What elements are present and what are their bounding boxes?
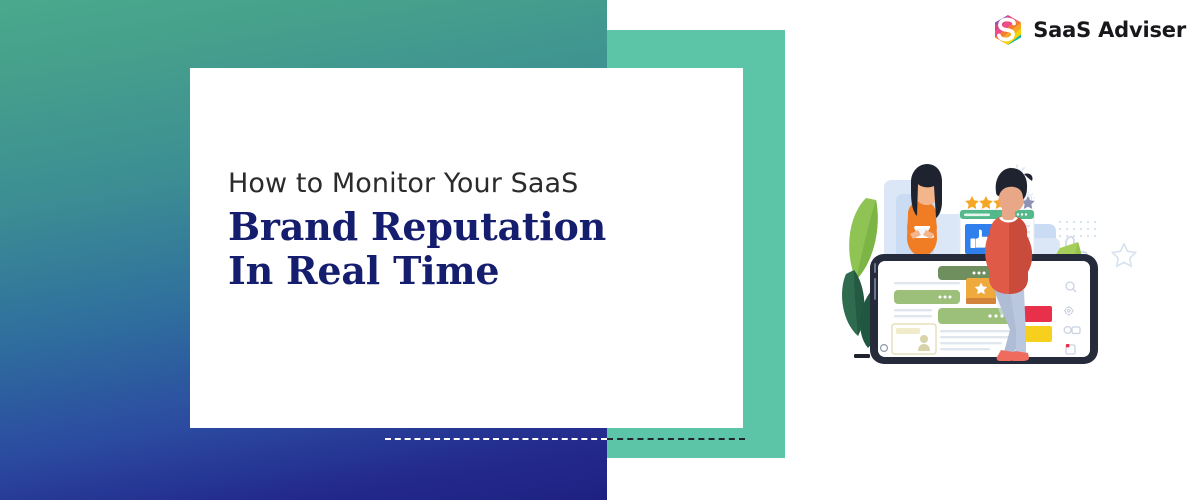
headline-card: How to Monitor Your SaaS Brand Reputatio…	[190, 68, 743, 428]
headline-line-2: In Real Time	[228, 249, 698, 293]
headline-eyebrow: How to Monitor Your SaaS	[228, 168, 698, 201]
dot-grid-decoration	[1059, 221, 1096, 237]
dashed-divider-left	[385, 438, 607, 440]
saas-adviser-hex-s-logo-icon	[992, 14, 1024, 46]
headline-block: How to Monitor Your SaaS Brand Reputatio…	[228, 168, 698, 293]
brand-logo-text: SaaS Adviser	[1033, 20, 1186, 41]
large-horizontal-smartphone	[870, 254, 1098, 364]
brand-logo[interactable]: SaaS Adviser	[992, 14, 1186, 46]
page-title: Brand Reputation In Real Time	[228, 205, 698, 293]
brand-reputation-illustration	[838, 158, 1168, 370]
headline-line-1: Brand Reputation	[228, 205, 698, 249]
dashed-divider-right	[607, 438, 745, 440]
profile-card	[892, 324, 936, 354]
saas-adviser-banner: How to Monitor Your SaaS Brand Reputatio…	[0, 0, 1200, 500]
dashed-divider	[385, 438, 745, 441]
ground-shadow	[854, 354, 870, 358]
